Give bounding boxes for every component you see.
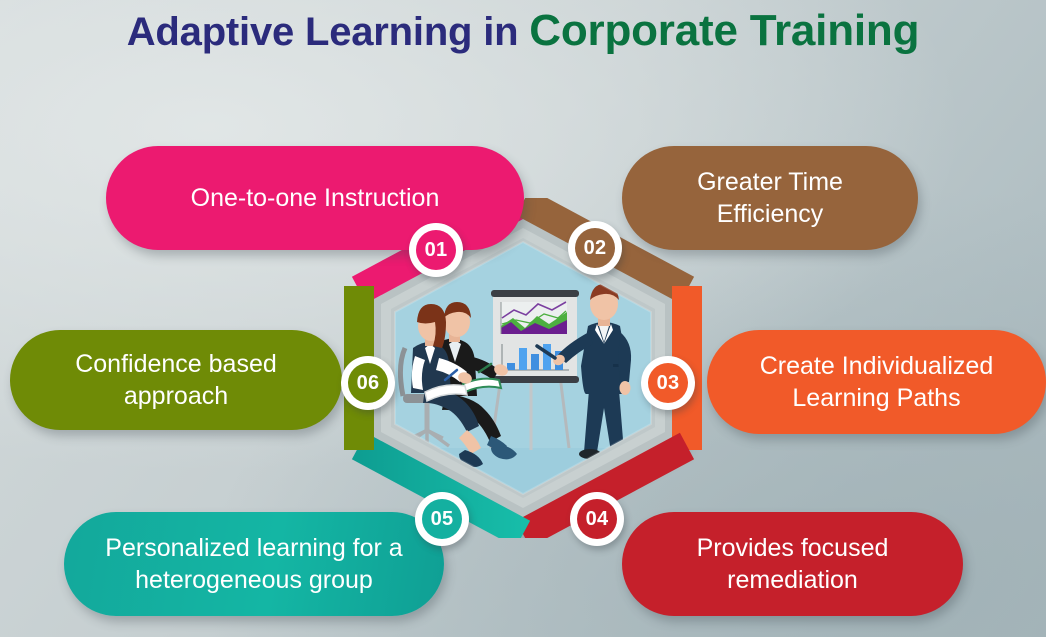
callout-label-05: Personalized learning for a heterogeneou… [84, 532, 424, 596]
callout-pill-01[interactable]: One-to-one Instruction [106, 146, 524, 250]
step-badge-04[interactable]: 04 [570, 492, 624, 546]
callout-label-03: Create Individualized Learning Paths [727, 350, 1026, 414]
flipchart-area-chart [501, 302, 567, 334]
step-badge-number-03: 03 [648, 363, 688, 403]
callout-label-02: Greater Time Efficiency [642, 166, 898, 230]
step-badge-number-06: 06 [348, 363, 388, 403]
infographic-canvas: Adaptive Learning in Corporate Training [0, 0, 1046, 637]
step-badge-number-04: 04 [577, 499, 617, 539]
step-badge-02[interactable]: 02 [568, 221, 622, 275]
page-title-part2: Corporate Training [529, 6, 919, 55]
step-badge-05[interactable]: 05 [415, 492, 469, 546]
flipchart-bottom-bar [491, 376, 579, 383]
step-badge-number-01: 01 [416, 230, 456, 270]
flipchart-top-bar [491, 290, 579, 297]
callout-label-04: Provides focused remediation [642, 532, 943, 596]
step-badge-03[interactable]: 03 [641, 356, 695, 410]
callout-label-01: One-to-one Instruction [191, 182, 440, 214]
step-badge-06[interactable]: 06 [341, 356, 395, 410]
step-badge-number-05: 05 [422, 499, 462, 539]
callout-pill-02[interactable]: Greater Time Efficiency [622, 146, 918, 250]
callout-label-06: Confidence based approach [30, 348, 322, 412]
step-badge-number-02: 02 [575, 228, 615, 268]
page-title: Adaptive Learning in Corporate Training [0, 6, 1046, 56]
page-title-part1: Adaptive Learning in [127, 10, 530, 54]
step-badge-01[interactable]: 01 [409, 223, 463, 277]
callout-pill-05[interactable]: Personalized learning for a heterogeneou… [64, 512, 444, 616]
callout-pill-04[interactable]: Provides focused remediation [622, 512, 963, 616]
callout-pill-03[interactable]: Create Individualized Learning Paths [707, 330, 1046, 434]
callout-pill-06[interactable]: Confidence based approach [10, 330, 342, 430]
